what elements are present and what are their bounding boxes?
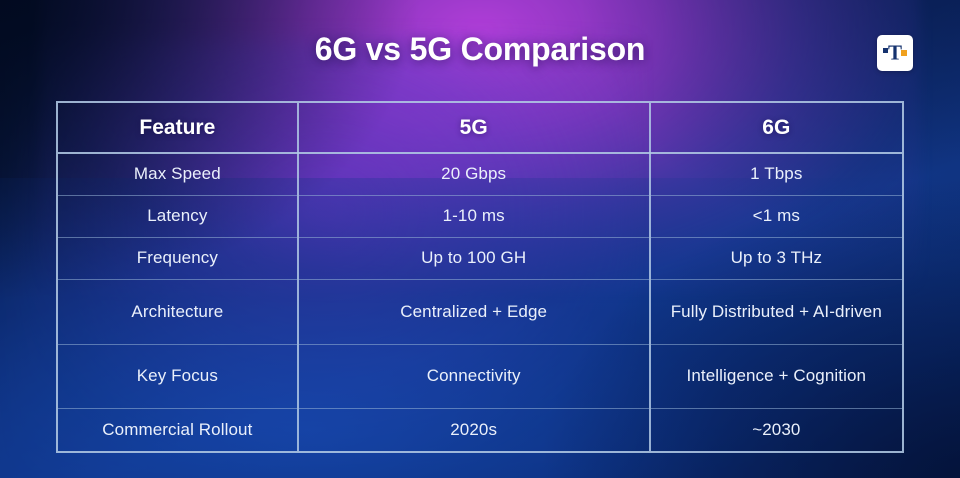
table-row: Latency 1-10 ms <1 ms — [58, 195, 902, 237]
cell-6g: Intelligence + Cognition — [650, 344, 902, 408]
table-row: Key Focus Connectivity Intelligence + Co… — [58, 344, 902, 408]
cell-5g: Connectivity — [298, 344, 650, 408]
column-header-5g: 5G — [298, 103, 650, 153]
cell-6g: Up to 3 THz — [650, 238, 902, 280]
cell-6g: <1 ms — [650, 195, 902, 237]
table-row: Architecture Centralized + Edge Fully Di… — [58, 280, 902, 344]
slide-content: 6G vs 5G Comparison T Feature 5G 6G — [0, 0, 960, 478]
table-row: Commercial Rollout 2020s ~2030 — [58, 409, 902, 451]
cell-5g: Centralized + Edge — [298, 280, 650, 344]
page-title: 6G vs 5G Comparison — [0, 31, 960, 68]
cell-6g: ~2030 — [650, 409, 902, 451]
table-row: Frequency Up to 100 GH Up to 3 THz — [58, 238, 902, 280]
table-header-row: Feature 5G 6G — [58, 103, 902, 153]
cell-feature: Max Speed — [58, 153, 298, 195]
comparison-table: Feature 5G 6G Max Speed 20 Gbps 1 Tbps L… — [58, 103, 902, 451]
cell-feature: Commercial Rollout — [58, 409, 298, 451]
cell-5g: 1-10 ms — [298, 195, 650, 237]
slide-canvas: 6G vs 5G Comparison T Feature 5G 6G — [0, 0, 960, 478]
table-body: Max Speed 20 Gbps 1 Tbps Latency 1-10 ms… — [58, 153, 902, 451]
cell-feature: Key Focus — [58, 344, 298, 408]
cell-6g: Fully Distributed + AI-driven — [650, 280, 902, 344]
cell-feature: Latency — [58, 195, 298, 237]
cell-feature: Frequency — [58, 238, 298, 280]
column-header-6g: 6G — [650, 103, 902, 153]
column-header-feature: Feature — [58, 103, 298, 153]
cell-5g: 2020s — [298, 409, 650, 451]
cell-feature: Architecture — [58, 280, 298, 344]
cell-5g: 20 Gbps — [298, 153, 650, 195]
comparison-table-container: Feature 5G 6G Max Speed 20 Gbps 1 Tbps L… — [56, 101, 904, 453]
cell-5g: Up to 100 GH — [298, 238, 650, 280]
cell-6g: 1 Tbps — [650, 153, 902, 195]
table-row: Max Speed 20 Gbps 1 Tbps — [58, 153, 902, 195]
brand-logo-icon: T — [877, 35, 913, 71]
table-header: Feature 5G 6G — [58, 103, 902, 153]
logo-letter: T — [888, 43, 902, 64]
